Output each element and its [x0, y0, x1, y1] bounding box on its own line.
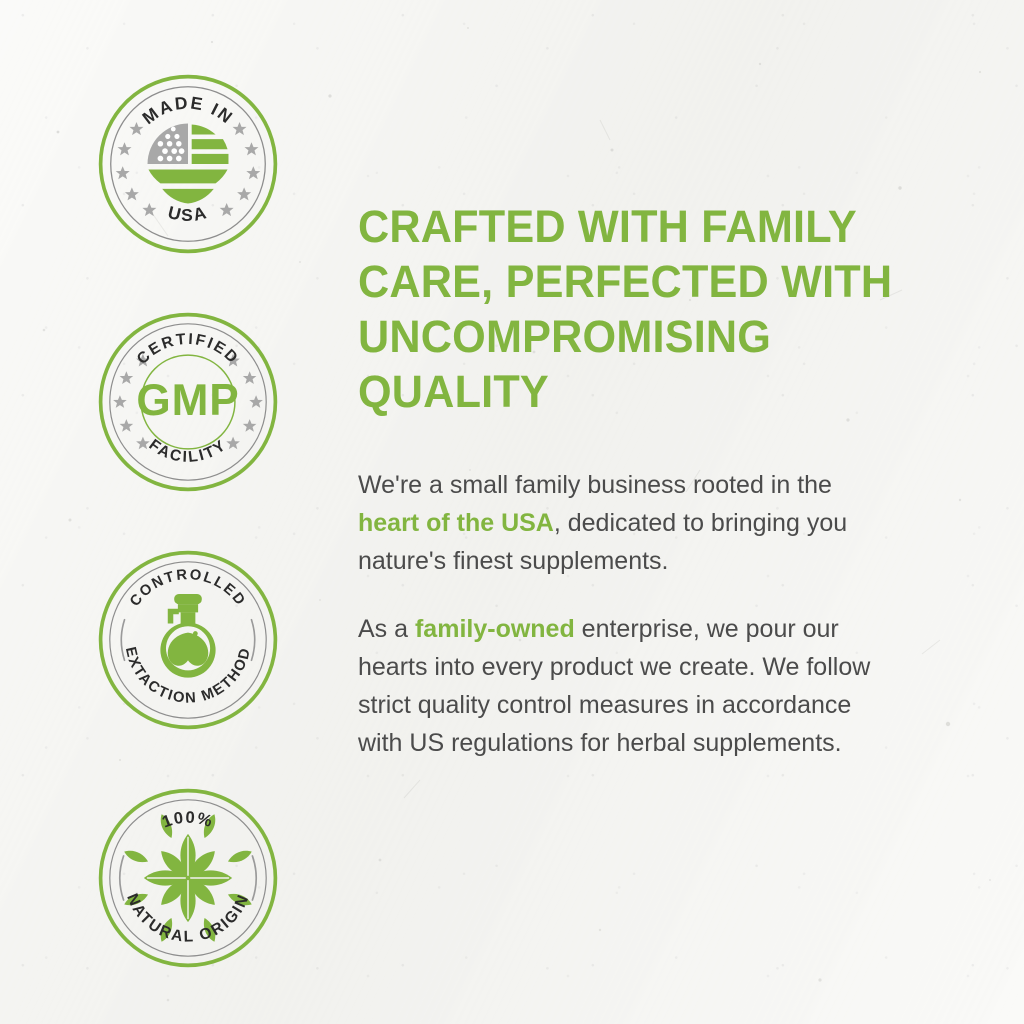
- flask-leaves-icon: [160, 594, 215, 678]
- badge-top-text: 100%: [160, 808, 216, 832]
- badge-made-in-usa[interactable]: MADE IN USA: [96, 72, 280, 256]
- usa-flag-circle-icon: [148, 124, 229, 204]
- paragraph-1-text-before: We're a small family business rooted in …: [358, 471, 832, 499]
- badge-bottom-text: FACILITY: [146, 436, 231, 466]
- gmp-label: GMP: [136, 376, 239, 425]
- extraction-method-badge-graphic: CONTROLLED EXTACTION METHOD: [96, 548, 280, 732]
- page-title: Crafted with family care, perfected with…: [358, 200, 896, 420]
- badge-top-text: MADE IN: [138, 92, 237, 128]
- badge-bottom-text: USA: [166, 202, 210, 225]
- natural-origin-badge-graphic: 100% NATURAL ORIGIN: [96, 786, 280, 970]
- paragraph-2-highlight: family-owned: [415, 615, 575, 643]
- paragraph-1-highlight: heart of the USA: [358, 509, 554, 537]
- made-in-usa-badge-graphic: MADE IN USA: [96, 72, 280, 256]
- badge-controlled-extraction-method[interactable]: CONTROLLED EXTACTION METHOD: [96, 548, 280, 732]
- badge-top-text: CERTIFIED: [134, 331, 242, 368]
- body-paragraph-2: As a family-owned enterprise, we pour ou…: [358, 610, 878, 762]
- copy-column: Crafted with family care, perfected with…: [358, 200, 918, 762]
- badge-natural-origin[interactable]: 100% NATURAL ORIGIN: [96, 786, 280, 970]
- promo-panel: MADE IN USA: [0, 0, 1024, 1024]
- badge-gmp-certified-facility[interactable]: GMP CERTIFIED FACILITY: [96, 310, 280, 494]
- certification-badge-column: MADE IN USA: [96, 72, 286, 1024]
- gmp-badge-graphic: GMP CERTIFIED FACILITY: [96, 310, 280, 494]
- body-paragraph-1: We're a small family business rooted in …: [358, 466, 878, 580]
- paragraph-2-text-before: As a: [358, 615, 415, 643]
